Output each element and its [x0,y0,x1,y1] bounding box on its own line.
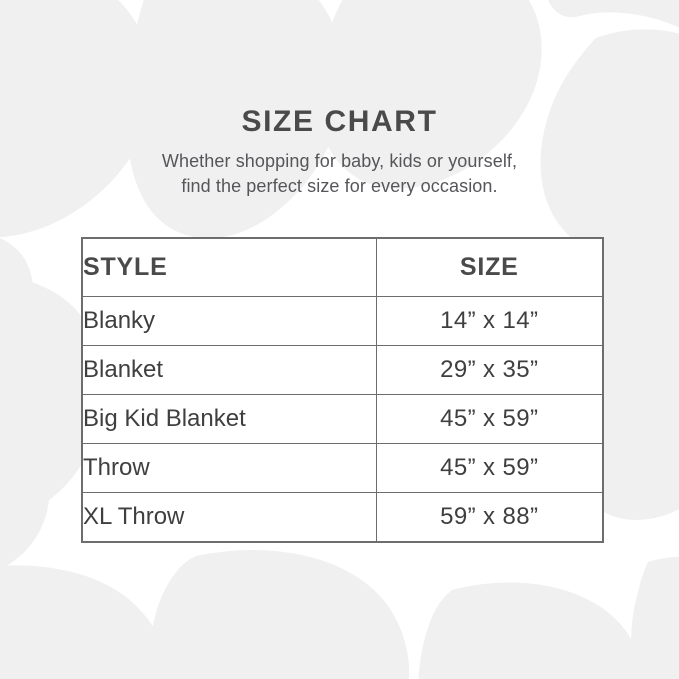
size-chart-page: SIZE CHART Whether shopping for baby, ki… [0,0,679,679]
cell-style: Throw [83,444,376,493]
column-header-size: SIZE [376,239,602,297]
size-table: STYLE SIZE Blanky 14” x 14” Blanket 29” … [83,239,602,541]
column-header-style: STYLE [83,239,376,297]
subtitle-line-2: find the perfect size for every occasion… [0,174,679,199]
cell-style: XL Throw [83,493,376,542]
cell-style: Blanket [83,346,376,395]
table-row: Blanky 14” x 14” [83,297,602,346]
table-row: Big Kid Blanket 45” x 59” [83,395,602,444]
cell-style: Blanky [83,297,376,346]
cell-size: 45” x 59” [376,395,602,444]
page-title: SIZE CHART [0,104,679,140]
subtitle-line-1: Whether shopping for baby, kids or yours… [0,149,679,174]
cell-style: Big Kid Blanket [83,395,376,444]
size-table-container: STYLE SIZE Blanky 14” x 14” Blanket 29” … [81,237,604,543]
cell-size: 14” x 14” [376,297,602,346]
size-table-body: Blanky 14” x 14” Blanket 29” x 35” Big K… [83,297,602,542]
size-table-head: STYLE SIZE [83,239,602,297]
chart-header: SIZE CHART Whether shopping for baby, ki… [0,104,679,199]
table-row: Throw 45” x 59” [83,444,602,493]
cell-size: 59” x 88” [376,493,602,542]
table-row: XL Throw 59” x 88” [83,493,602,542]
table-header-row: STYLE SIZE [83,239,602,297]
cell-size: 29” x 35” [376,346,602,395]
page-subtitle: Whether shopping for baby, kids or yours… [0,149,679,199]
table-row: Blanket 29” x 35” [83,346,602,395]
cell-size: 45” x 59” [376,444,602,493]
